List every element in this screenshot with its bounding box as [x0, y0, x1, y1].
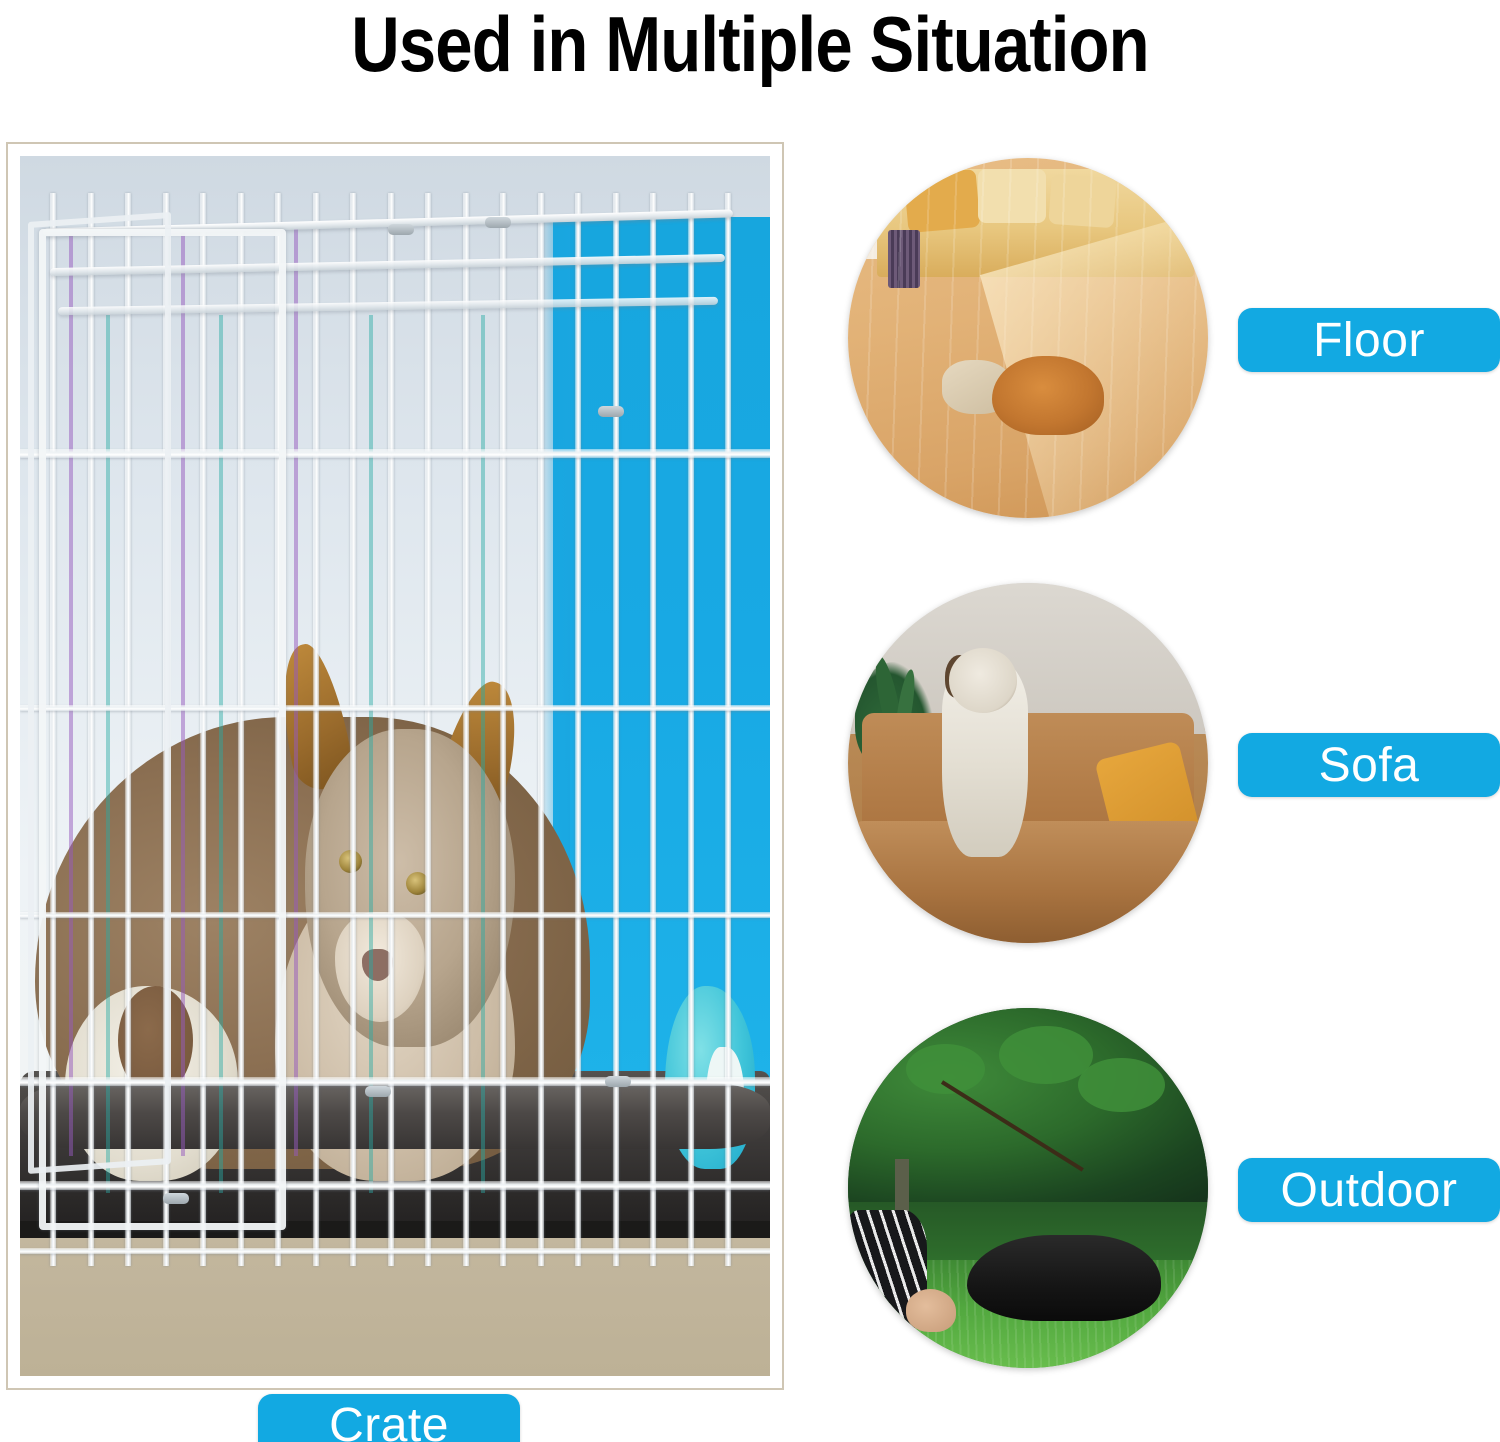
- infographic-page: Used in Multiple Situation: [0, 0, 1500, 1442]
- leaf-cluster: [999, 1026, 1093, 1084]
- black-dog: [967, 1235, 1161, 1321]
- situation-thumbnail-floor[interactable]: [848, 158, 1208, 518]
- dog-bed-bolster: [20, 1083, 770, 1149]
- leaf-cluster: [1078, 1058, 1164, 1112]
- label-pill-floor[interactable]: Floor: [1238, 308, 1500, 372]
- situation-item-outdoor: Outdoor: [820, 1008, 1500, 1372]
- person-hand: [906, 1289, 956, 1332]
- crate-tray: [20, 1221, 770, 1238]
- crate-photo-frame: [6, 142, 784, 1390]
- leather-couch-seat: [848, 821, 1208, 943]
- golden-retriever: [992, 356, 1104, 435]
- label-pill-crate[interactable]: Crate: [258, 1394, 520, 1442]
- situation-thumbnail-sofa[interactable]: [848, 583, 1208, 943]
- page-title: Used in Multiple Situation: [105, 0, 1395, 92]
- dog-eye-right: [406, 872, 429, 895]
- crate-photo: [20, 156, 770, 1376]
- situation-thumbnail-outdoor[interactable]: [848, 1008, 1208, 1368]
- dog-head: [949, 648, 1017, 713]
- label-pill-outdoor[interactable]: Outdoor: [1238, 1158, 1500, 1222]
- situation-list: Floor Sofa: [820, 140, 1500, 1390]
- situation-item-sofa: Sofa: [820, 583, 1500, 947]
- plush-toy-ear: [118, 986, 193, 1096]
- label-pill-sofa[interactable]: Sofa: [1238, 733, 1500, 797]
- situation-item-floor: Floor: [820, 158, 1500, 522]
